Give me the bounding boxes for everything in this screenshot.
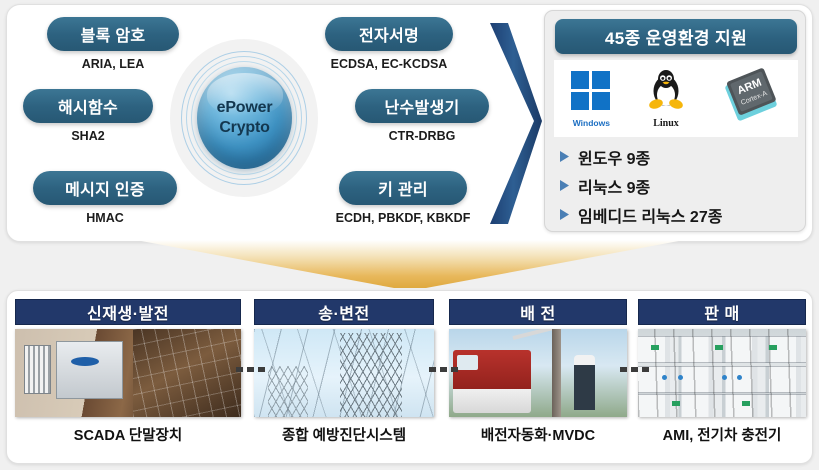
epower-crypto-sphere: ePower Crypto: [197, 67, 292, 169]
linux-logo-caption: Linux: [653, 118, 679, 129]
feature-pill-mac[interactable]: 메시지 인증: [33, 171, 177, 205]
infographic-root: ePower Crypto 블록 암호 ARIA, LEA 해시함수 SHA2 …: [0, 0, 819, 470]
linux-logo-icon: [645, 68, 687, 117]
feature-algos-key-management: ECDH, PBKDF, KBKDF: [313, 211, 493, 225]
arm-chip-logo-cell: ARM Cortex-A: [720, 67, 782, 130]
os-support-list: 윈도우 9종 리눅스 9종 임베디드 리눅스 27종: [559, 142, 803, 229]
meter-indicator: [737, 375, 742, 380]
os-logo-row: Windows: [554, 60, 798, 137]
stage-caption-sales: AMI, 전기차 충전기: [638, 424, 806, 445]
meter-terminal: [769, 345, 777, 350]
feature-pill-rng[interactable]: 난수발생기: [355, 89, 489, 123]
triangle-right-icon: [559, 208, 570, 221]
stage-transmission-substation[interactable]: 송·변전 종합 예방진단시스템: [254, 299, 434, 457]
line-worker: [574, 355, 595, 410]
linux-logo-cell: Linux: [645, 68, 687, 129]
triangle-right-icon: [559, 179, 570, 192]
stage-image-transmission-tower: [254, 329, 434, 417]
stage-caption-renewable: SCADA 단말장치: [15, 424, 241, 445]
solar-panel-array: [133, 329, 241, 417]
feature-algos-hash: SHA2: [23, 129, 153, 143]
os-list-item-windows[interactable]: 윈도우 9종: [559, 142, 803, 171]
stage-connector-dots-2: [429, 367, 458, 372]
feature-algos-signature: ECDSA, EC-KCDSA: [307, 57, 471, 71]
feature-algos-block-cipher: ARIA, LEA: [47, 57, 179, 71]
stage-distribution[interactable]: 배 전 배전자동화·MVDC: [449, 299, 627, 457]
os-list-label-linux: 리눅스 9종: [578, 174, 650, 198]
stage-connector-dots-1: [236, 367, 265, 372]
feature-pill-signature[interactable]: 전자서명: [325, 17, 453, 51]
windows-logo-cell: Windows: [570, 70, 612, 128]
crane-boom: [513, 329, 573, 340]
breaker-bank: [24, 345, 51, 394]
stage-sales[interactable]: 판 매 AMI, 전기차 충전기: [638, 299, 806, 457]
stage-header-transmission: 송·변전: [254, 299, 434, 325]
tower-primary: [340, 333, 401, 417]
gold-down-arrow-icon: [136, 240, 684, 292]
os-panel-title: 45종 운영환경 지원: [555, 19, 797, 54]
stage-connector-dots-3: [620, 367, 649, 372]
os-list-item-linux[interactable]: 리눅스 9종: [559, 171, 803, 200]
feature-algos-rng: CTR-DRBG: [355, 129, 489, 143]
power-grid-stages-panel: 신재생·발전 SCADA 단말장치 송·변전 종합 예방진단시스템 배 전: [6, 290, 813, 464]
feature-pill-key-management[interactable]: 키 관리: [339, 171, 467, 205]
feature-algos-mac: HMAC: [33, 211, 177, 225]
os-list-label-windows: 윈도우 9종: [578, 145, 650, 169]
stage-caption-transmission: 종합 예방진단시스템: [254, 424, 434, 445]
feature-pill-hash[interactable]: 해시함수: [23, 89, 153, 123]
utility-truck: [453, 350, 531, 413]
triangle-right-icon: [559, 150, 570, 163]
stage-image-scada: [15, 329, 241, 417]
stage-caption-distribution: 배전자동화·MVDC: [449, 424, 627, 445]
tower-secondary: [268, 366, 308, 417]
utility-pole: [552, 329, 561, 417]
arm-chip-icon: ARM Cortex-A: [720, 67, 782, 130]
windows-logo-icon: [570, 70, 612, 117]
meter-wiring: [638, 329, 806, 417]
stage-image-ami-meters: [638, 329, 806, 417]
os-list-item-embedded-linux[interactable]: 임베디드 리눅스 27종: [559, 200, 803, 229]
feature-pill-block-cipher[interactable]: 블록 암호: [47, 17, 179, 51]
meter-terminal: [672, 401, 680, 406]
os-list-label-embedded-linux: 임베디드 리눅스 27종: [578, 203, 722, 227]
windows-logo-caption: Windows: [573, 118, 610, 128]
chevron-right-arrow-icon: [484, 21, 546, 226]
sphere-title-line1: ePower: [217, 98, 273, 118]
truck-window: [457, 355, 477, 370]
os-support-panel: 45종 운영환경 지원 Windows: [544, 10, 806, 232]
meter-terminal: [742, 401, 750, 406]
stage-image-utility-truck: [449, 329, 627, 417]
inverter-unit: [56, 341, 124, 399]
stage-header-sales: 판 매: [638, 299, 806, 325]
sphere-title-line2: Crypto: [219, 118, 269, 138]
meter-terminal: [651, 345, 659, 350]
stage-renewable-generation[interactable]: 신재생·발전 SCADA 단말장치: [15, 299, 241, 457]
stage-header-renewable: 신재생·발전: [15, 299, 241, 325]
meter-terminal: [715, 345, 723, 350]
meter-indicator: [722, 375, 727, 380]
meter-indicator: [662, 375, 667, 380]
stage-header-distribution: 배 전: [449, 299, 627, 325]
